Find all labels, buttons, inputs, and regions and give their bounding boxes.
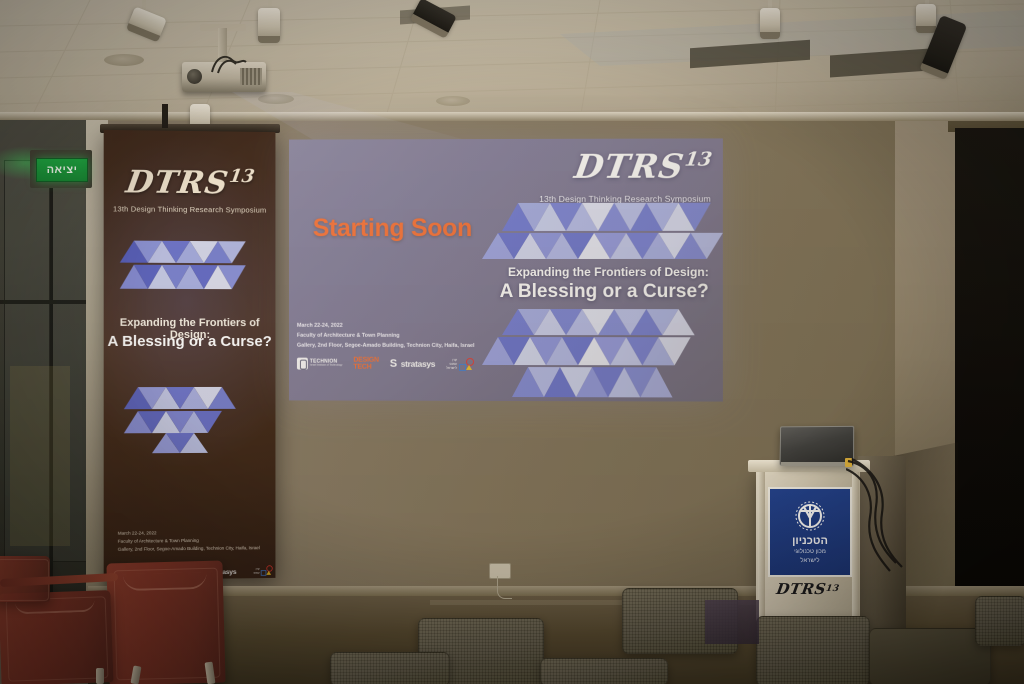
slide-logo: DTRS13 xyxy=(572,146,714,185)
banner-triangle-pattern-icon xyxy=(120,237,260,290)
track-light[interactable] xyxy=(916,4,936,30)
ceiling-projector[interactable] xyxy=(182,62,266,92)
mesh-chair[interactable] xyxy=(330,652,450,684)
foundation-shapes-icon xyxy=(261,565,273,576)
slide-footer-line-1: March 22-24, 2022 xyxy=(297,321,526,331)
exit-sign-label: יציאה xyxy=(47,164,78,176)
podium-side-panel xyxy=(858,456,906,634)
slide-headline-1: Expanding the Frontiers of Design: xyxy=(508,265,709,279)
track-light[interactable] xyxy=(258,8,280,40)
slide-footer-line-2: Faculty of Architecture & Town Planning xyxy=(297,331,526,341)
technion-emblem-icon xyxy=(793,498,827,532)
slide-logo-superscript: 13 xyxy=(683,148,713,170)
outlet-cord xyxy=(497,576,512,599)
banner-hook xyxy=(162,104,168,128)
podium-event-logo-superscript: 13 xyxy=(825,584,840,594)
sponsor-logo-stratasys: S stratasys xyxy=(390,358,435,369)
ceiling-recessed-light xyxy=(258,94,294,104)
ceiling-recessed-light xyxy=(104,54,144,66)
chair-seat-cushion xyxy=(705,600,759,644)
presenter-laptop[interactable] xyxy=(780,426,855,466)
event-roll-up-banner: DTRS13 13th Design Thinking Research Sym… xyxy=(104,130,276,580)
foundation-heb-3: לישראל xyxy=(446,366,457,370)
banner-footer-line-3: Gallery, 2nd Floor, Segoe-Amado Building… xyxy=(118,544,268,554)
chair-leg xyxy=(96,668,104,684)
podium-institution-line2: מכון טכנולוגי xyxy=(770,549,850,555)
projected-presentation-slide: DTRS13 13th Design Thinking Research Sym… xyxy=(289,138,723,401)
sponsor-designtech-sub: TECH xyxy=(353,364,378,371)
slide-headline-2: A Blessing or a Curse? xyxy=(500,281,709,303)
stratasys-mark-icon: S xyxy=(390,358,399,369)
exit-sign: יציאה xyxy=(36,158,88,182)
podium-event-logo: DTRS13 xyxy=(766,576,850,602)
sponsor-stratasys-name: stratasys xyxy=(401,359,436,369)
mesh-chair[interactable] xyxy=(975,596,1024,646)
sponsor-logo-technion: TECHNION Israel Institute of Technology xyxy=(297,358,342,370)
slide-footer-line-3: Gallery, 2nd Floor, Segoe-Amado Building… xyxy=(297,341,526,351)
podium-institution-line3: לישראל xyxy=(770,558,850,564)
foundation-heb-2: עמוס xyxy=(254,570,260,573)
conference-room-photo: יציאה DTRS13 13th Design Thinking Resear… xyxy=(0,0,1024,684)
banner-logo-text: DTRS xyxy=(123,164,231,201)
banner-triangle-pattern-icon xyxy=(124,385,260,453)
laptop-hinge xyxy=(781,462,851,466)
podium-technion-sign: הטכניון מכון טכנולוגי לישראל xyxy=(768,487,852,577)
foundation-heb-1: קרן xyxy=(254,567,260,570)
banner-logo-superscript: 13 xyxy=(228,166,256,187)
mesh-chair[interactable] xyxy=(540,658,668,684)
podium-institution-name: הטכניון xyxy=(770,535,850,547)
banner-logo: DTRS13 xyxy=(104,164,276,202)
slide-logo-text: DTRS xyxy=(572,147,687,186)
dark-doorway xyxy=(955,128,1024,648)
mesh-chair[interactable] xyxy=(869,628,991,684)
banner-footer: March 22-24, 2022 Faculty of Architectur… xyxy=(118,528,268,554)
slide-triangle-pattern-top-icon xyxy=(482,201,723,263)
foundation-shapes-icon xyxy=(459,357,474,370)
technion-seal-icon xyxy=(297,358,308,370)
ceiling-recessed-light xyxy=(436,96,470,106)
banner-headline-2: A Blessing or a Curse? xyxy=(104,333,276,350)
track-light[interactable] xyxy=(760,8,780,36)
projector-vent-icon xyxy=(240,68,262,85)
ceiling-wall-joint xyxy=(0,112,1024,121)
slide-footer: March 22-24, 2022 Faculty of Architectur… xyxy=(297,321,526,351)
slide-status-text: Starting Soon xyxy=(313,214,472,243)
mesh-chair[interactable] xyxy=(756,616,870,684)
projector-lens-icon xyxy=(187,69,202,84)
banner-subtitle: 13th Design Thinking Research Symposium xyxy=(104,204,276,214)
podium-leg xyxy=(852,470,859,628)
laptop-usb-dongle xyxy=(845,458,852,467)
sponsor-logo-designtech: DESIGN TECH xyxy=(353,357,378,371)
slide-sponsor-logos: TECHNION Israel Institute of Technology … xyxy=(297,355,496,373)
projector-mount-pole xyxy=(218,28,227,64)
podium-leg xyxy=(758,470,765,628)
sponsor-technion-sub: Israel Institute of Technology xyxy=(310,365,343,368)
sponsor-designtech-name: DESIGN xyxy=(353,357,378,364)
sponsor-logo-foundation: קרן עמוס xyxy=(254,565,273,576)
glass-reflection xyxy=(10,366,70,546)
sponsor-logo-foundation: קרן עמוס לישראל xyxy=(446,357,474,370)
podium-event-logo-text: DTRS xyxy=(775,580,827,598)
